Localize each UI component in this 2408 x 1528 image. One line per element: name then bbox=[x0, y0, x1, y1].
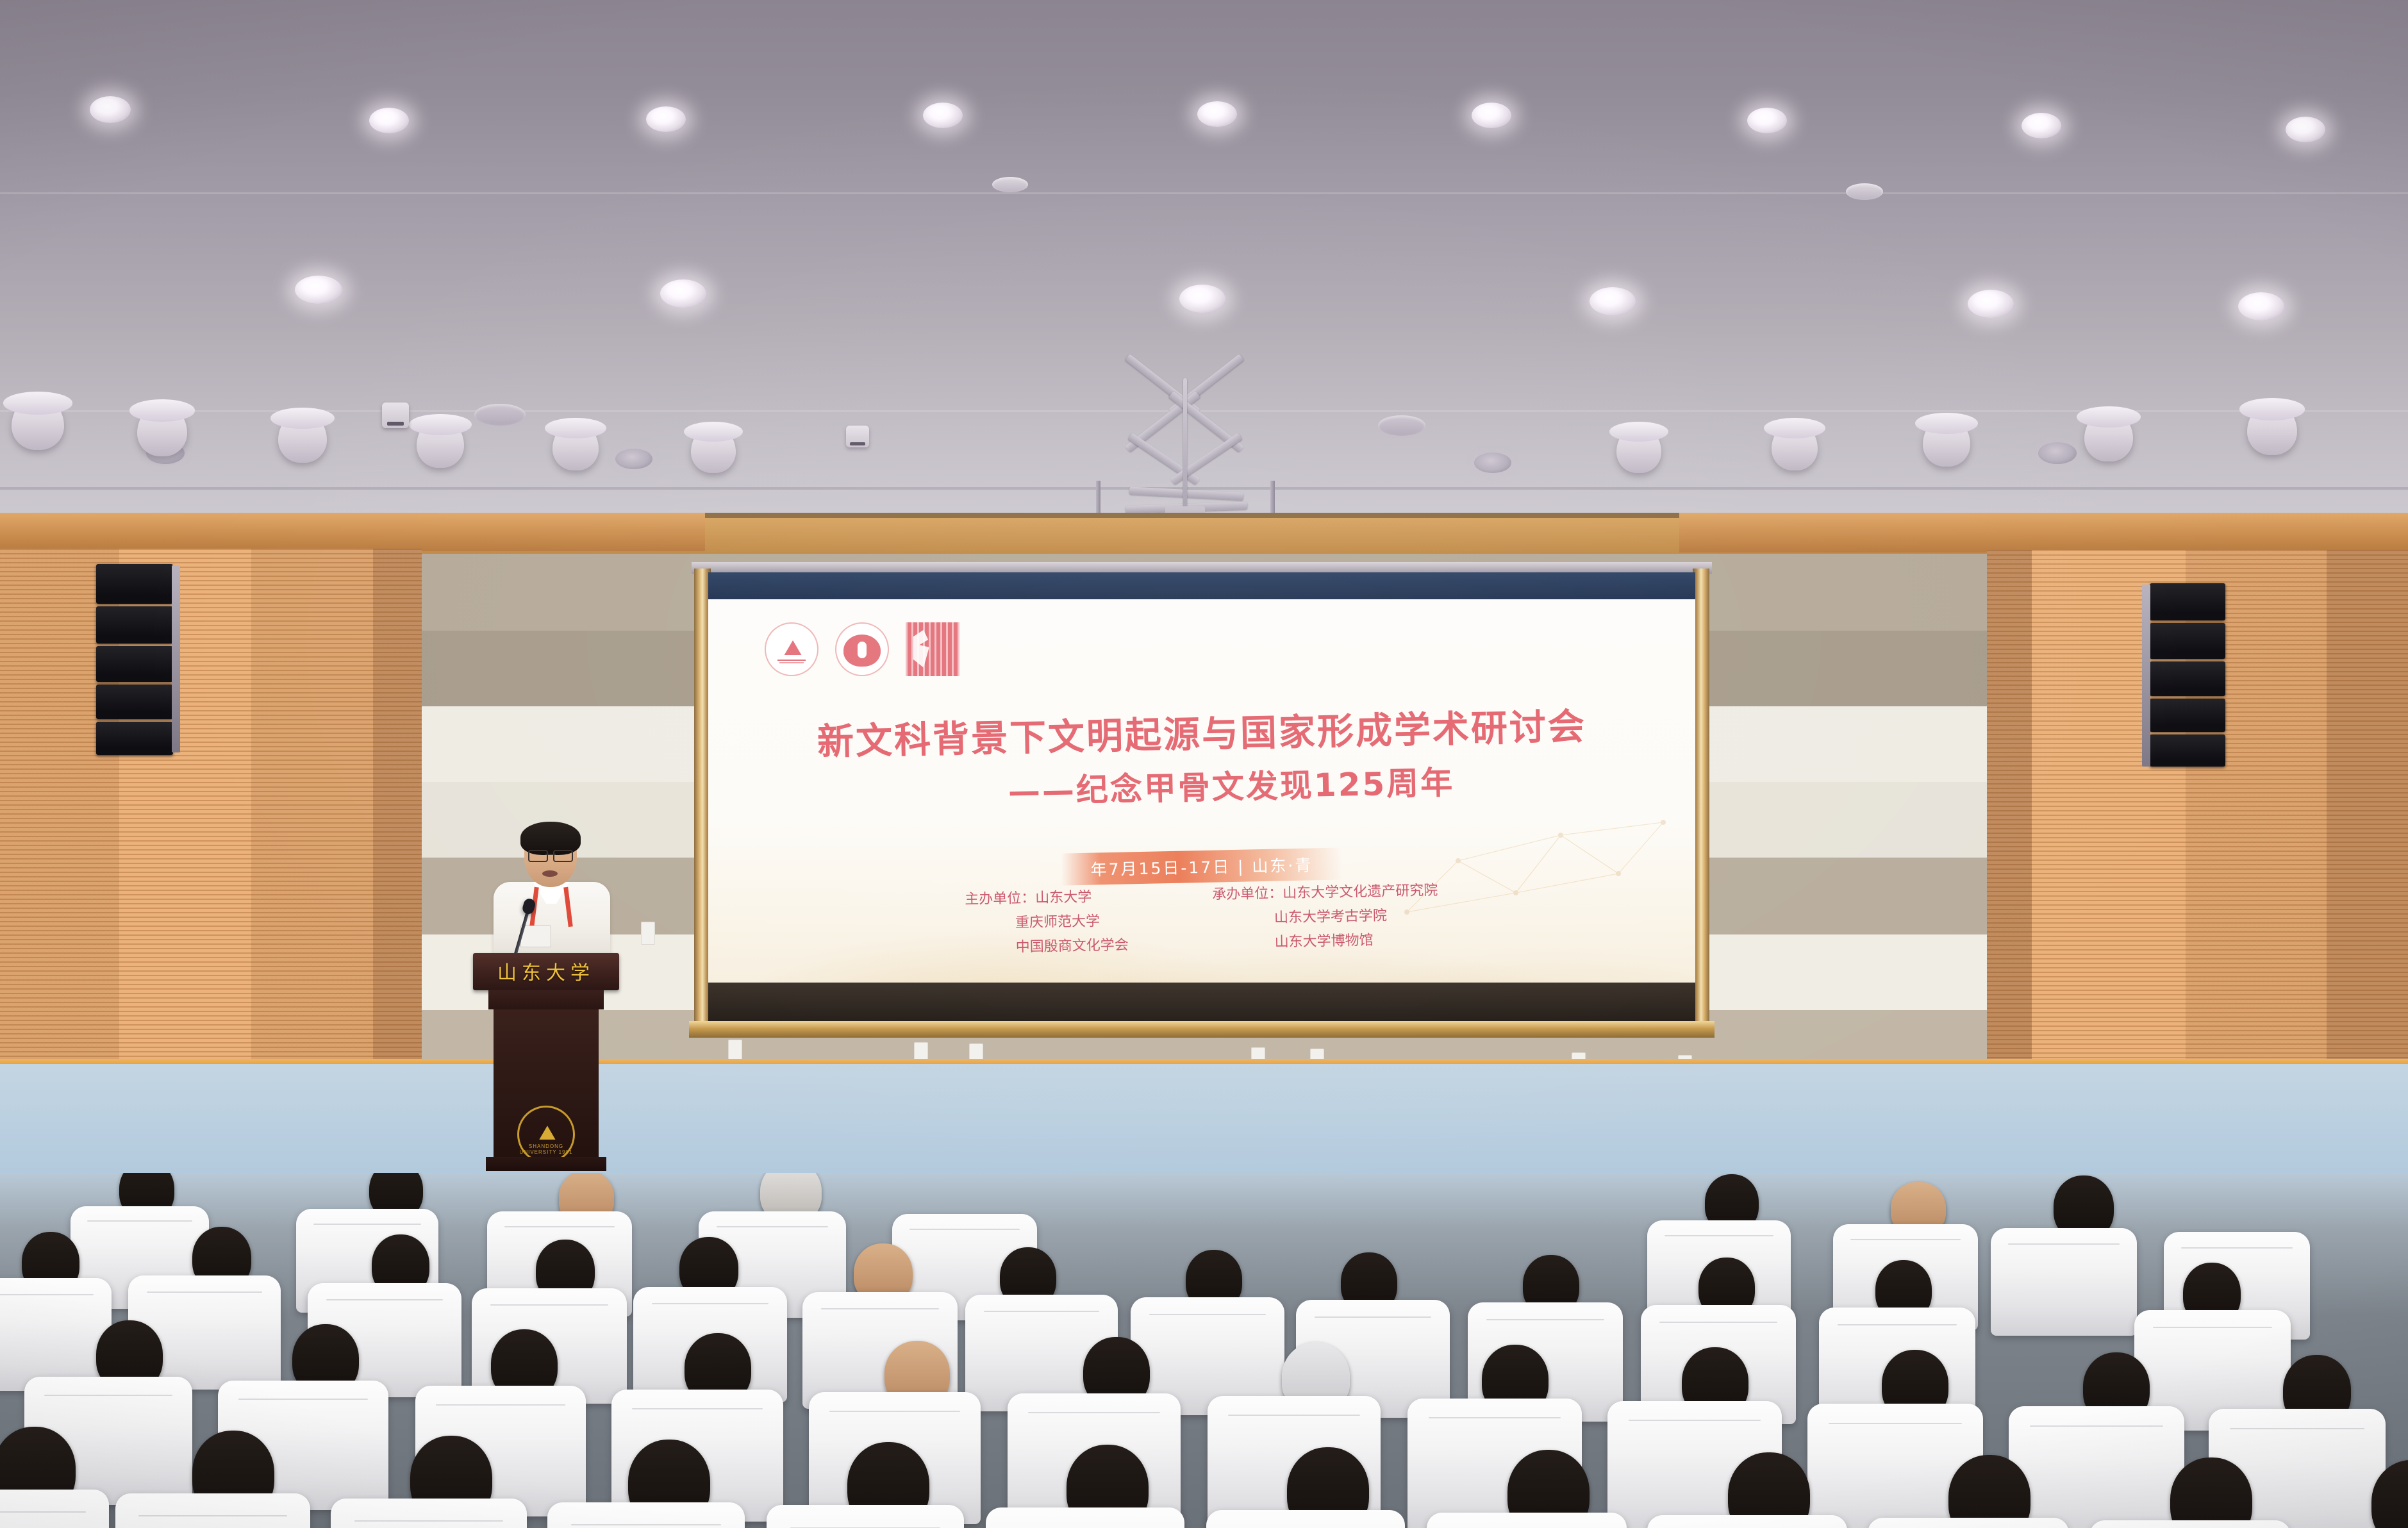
podium: 山东大学 ⛰ SHANDONG UNIVERSITY 1901 bbox=[473, 953, 619, 1174]
recessed-downlight bbox=[660, 279, 706, 308]
recessed-downlight bbox=[1197, 101, 1237, 127]
shandong-university-logo: ⛰ bbox=[765, 622, 818, 676]
slide-logo-row: ⛰ bbox=[765, 622, 959, 676]
audience-chair bbox=[2009, 1406, 2184, 1528]
ceiling-speaker bbox=[2084, 410, 2133, 461]
audience-head bbox=[1948, 1455, 2030, 1528]
audience-chair bbox=[0, 1278, 112, 1391]
ceiling-speaker bbox=[552, 422, 599, 470]
audience-chair bbox=[767, 1505, 964, 1528]
wood-slat-panel bbox=[373, 549, 422, 1077]
auditorium-photo: ⛰ 新文科背景下文明起源与国家形成学术研讨会 ——纪念甲骨文发现125周年 年7… bbox=[0, 0, 2408, 1528]
recessed-downlight bbox=[1179, 285, 1225, 313]
audience-chair bbox=[547, 1502, 745, 1528]
ceiling-speaker bbox=[137, 404, 187, 456]
coorg-label: 承办单位： bbox=[1212, 885, 1283, 902]
oracle-bone-seal-logo bbox=[906, 622, 959, 676]
screen-top-band bbox=[708, 572, 1695, 599]
audience-seating bbox=[0, 1173, 2408, 1528]
wood-cornice bbox=[0, 513, 705, 551]
recessed-downlight bbox=[1474, 453, 1511, 473]
wood-slat-panel bbox=[251, 549, 373, 1077]
audience-chair bbox=[986, 1507, 1184, 1528]
podium-body: ⛰ SHANDONG UNIVERSITY 1901 bbox=[494, 1009, 599, 1161]
wood-slat-panel bbox=[2327, 550, 2408, 1077]
recessed-downlight bbox=[1968, 290, 2014, 318]
sprinkler-head bbox=[382, 403, 409, 428]
ceiling-speaker bbox=[1772, 422, 1818, 470]
audience-chair bbox=[1647, 1515, 1847, 1528]
ceiling-speaker bbox=[12, 396, 64, 450]
ceiling-speaker bbox=[417, 418, 464, 468]
recessed-downlight bbox=[615, 449, 652, 469]
recessed-downlight bbox=[923, 103, 963, 128]
ceiling-speaker bbox=[1616, 426, 1661, 473]
host-item-0: 山东大学 bbox=[1035, 889, 1092, 906]
line-array-speaker-stack bbox=[2150, 583, 2239, 795]
podium-base bbox=[486, 1157, 606, 1171]
audience-chair bbox=[115, 1493, 310, 1528]
audience-chair bbox=[2089, 1520, 2291, 1528]
projection-screen[interactable]: ⛰ 新文科背景下文明起源与国家形成学术研讨会 ——纪念甲骨文发现125周年 年7… bbox=[708, 572, 1695, 1021]
audience-chair bbox=[1868, 1518, 2069, 1528]
ceiling-speaker bbox=[691, 426, 736, 473]
ceiling-vent-plate bbox=[474, 404, 526, 426]
line-array-speaker-stack bbox=[96, 564, 186, 782]
mountain-glyph: ⛰ bbox=[784, 636, 800, 661]
host-item-1: 重庆师范大学 bbox=[965, 909, 1129, 936]
ceiling-vent-plate bbox=[1378, 415, 1425, 436]
wood-slat-panel bbox=[1987, 550, 2032, 1077]
name-badge bbox=[520, 926, 551, 947]
audience-chair bbox=[1206, 1510, 1405, 1528]
ceiling-speaker bbox=[2247, 403, 2297, 455]
recessed-downlight bbox=[1747, 108, 1787, 133]
recessed-downlight bbox=[1472, 103, 1511, 128]
podium-neck bbox=[488, 990, 604, 1009]
host-label: 主办单位： bbox=[965, 890, 1035, 907]
presenter bbox=[491, 826, 613, 960]
podium-engraving: 山东大学 bbox=[473, 957, 619, 985]
sprinkler-head bbox=[846, 426, 869, 447]
coorg-item-2: 山东大学博物馆 bbox=[1213, 927, 1439, 956]
recessed-downlight bbox=[295, 276, 342, 304]
slide-canvas: ⛰ 新文科背景下文明起源与国家形成学术研讨会 ——纪念甲骨文发现125周年 年7… bbox=[708, 599, 1695, 983]
recessed-downlight bbox=[2022, 113, 2061, 138]
recessed-downlight bbox=[2286, 117, 2325, 142]
seal-year-text: SHANDONG UNIVERSITY 1901 bbox=[519, 1143, 573, 1155]
recessed-downlight bbox=[1590, 287, 1636, 315]
slide-title-block: 新文科背景下文明起源与国家形成学术研讨会 ——纪念甲骨文发现125周年 bbox=[708, 713, 1695, 808]
screen-bottom-trim bbox=[689, 1021, 1715, 1038]
seal-mountain-glyph: ⛰ bbox=[539, 1121, 554, 1145]
chongqing-normal-university-logo bbox=[835, 622, 889, 676]
slide-date-banner: 年7月15日-17日 | 山东·青 bbox=[1061, 847, 1343, 885]
wall-outlet[interactable] bbox=[641, 922, 655, 945]
presenter-mouth bbox=[542, 870, 558, 877]
host-item-2: 中国殷商文化学会 bbox=[965, 933, 1129, 960]
audience-chair bbox=[1427, 1513, 1627, 1528]
audience-chair bbox=[1991, 1228, 2137, 1336]
coorg-item-1: 山东大学考古学院 bbox=[1213, 902, 1439, 931]
coorganizer-column: 承办单位：山东大学文化遗产研究院 山东大学考古学院 山东大学博物馆 bbox=[1212, 878, 1439, 955]
podium-top: 山东大学 bbox=[473, 953, 619, 990]
recessed-downlight bbox=[2038, 442, 2077, 464]
wood-cornice bbox=[1679, 513, 2408, 552]
ceiling-speaker bbox=[278, 411, 327, 463]
smoke-detector bbox=[1846, 183, 1883, 200]
audience-chair bbox=[331, 1499, 527, 1528]
recessed-downlight bbox=[90, 96, 131, 123]
recessed-downlight bbox=[2238, 292, 2284, 320]
recessed-downlight bbox=[369, 108, 409, 133]
audience-chair bbox=[0, 1490, 109, 1528]
coorg-item-0: 山东大学文化遗产研究院 bbox=[1283, 882, 1438, 901]
eyeglasses bbox=[528, 850, 573, 859]
smoke-detector bbox=[992, 177, 1028, 192]
university-seal: ⛰ SHANDONG UNIVERSITY 1901 bbox=[517, 1106, 575, 1163]
scissor-lift-mount bbox=[1090, 378, 1282, 513]
recessed-downlight bbox=[646, 106, 686, 132]
host-organizer-column: 主办单位：山东大学 重庆师范大学 中国殷商文化学会 bbox=[965, 884, 1129, 960]
ceiling-speaker bbox=[1923, 417, 1970, 467]
screen-bottom-band bbox=[708, 983, 1695, 1021]
